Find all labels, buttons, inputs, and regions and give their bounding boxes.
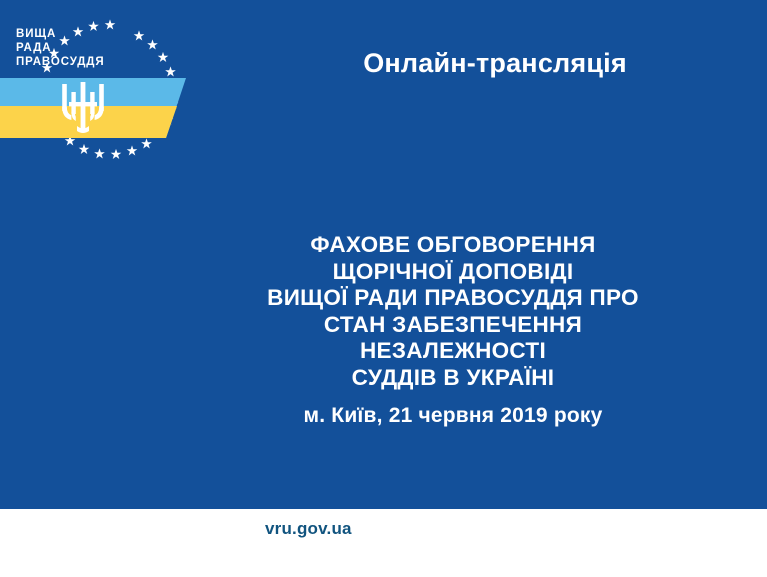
footer-bar [0, 509, 767, 577]
vru-logo: ВИЩА РАДА ПРАВОСУДДЯ [0, 0, 215, 195]
page-title-line-1: ФАХОВЕ ОБГОВОРЕННЯ [133, 232, 767, 259]
logo-wordmark-line-3: ПРАВОСУДДЯ [16, 55, 116, 69]
logo-wordmark-line-2: РАДА [16, 41, 116, 55]
ukrainian-trident-icon [59, 80, 107, 136]
page-title-line-5: НЕЗАЛЕЖНОСТІ [133, 338, 767, 365]
event-date: м. Київ, 21 червня 2019 року [133, 403, 767, 429]
logo-wordmark-line-1: ВИЩА [16, 27, 116, 41]
page-title-line-2: ЩОРІЧНОЇ ДОПОВІДІ [133, 259, 767, 286]
page-title-line-3: ВИЩОЇ РАДИ ПРАВОСУДДЯ ПРО [133, 285, 767, 312]
broadcast-header-title: Онлайн-трансляція [260, 46, 730, 80]
page-title-line-6: СУДДІВ В УКРАЇНІ [133, 365, 767, 392]
page-title-line-4: СТАН ЗАБЕЗПЕЧЕННЯ [133, 312, 767, 339]
footer-website-url[interactable]: vru.gov.ua [265, 519, 352, 539]
presentation-slide: ВИЩА РАДА ПРАВОСУДДЯ Онлайн-трансляція Ф… [0, 0, 767, 577]
slide-stage: ВИЩА РАДА ПРАВОСУДДЯ Онлайн-трансляція Ф… [0, 0, 767, 509]
page-title: ФАХОВЕ ОБГОВОРЕННЯ ЩОРІЧНОЇ ДОПОВІДІ ВИЩ… [133, 232, 767, 391]
logo-wordmark: ВИЩА РАДА ПРАВОСУДДЯ [16, 27, 116, 69]
